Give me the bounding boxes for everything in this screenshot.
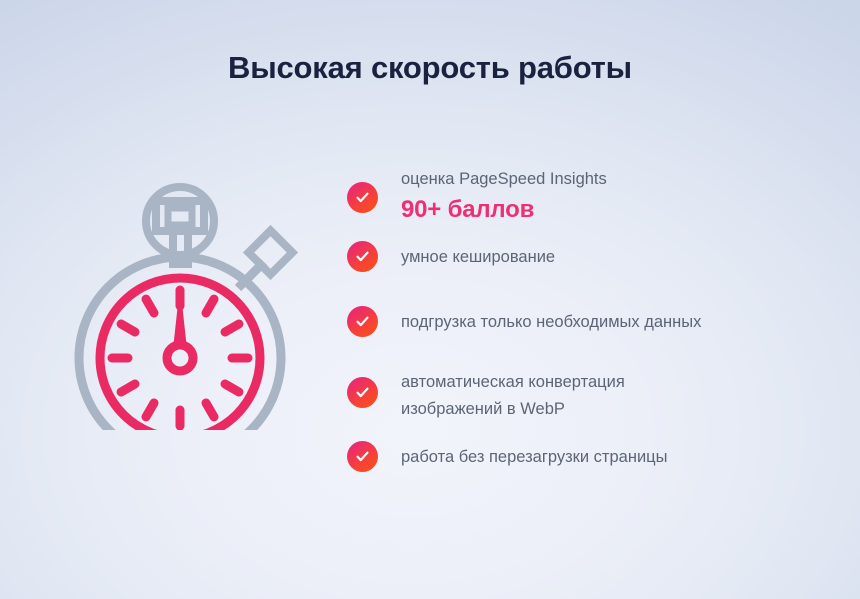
feature-line-highlight: 90+ баллов (401, 194, 817, 225)
feature-text: подгрузка только необходимых данных (379, 306, 817, 336)
check-badge (347, 441, 378, 472)
feature-line: автоматическая конвертация (401, 369, 817, 396)
feature-line: подгрузка только необходимых данных (401, 309, 817, 336)
check-icon (354, 448, 371, 465)
list-item: оценка PageSpeed Insights 90+ баллов (347, 166, 817, 225)
feature-list: оценка PageSpeed Insights 90+ баллов умн… (347, 166, 817, 473)
check-icon (354, 248, 371, 265)
page-title: Высокая скорость работы (0, 49, 860, 86)
list-item: автоматическая конвертация изображений в… (347, 369, 817, 423)
list-item: подгрузка только необходимых данных (347, 306, 817, 338)
badge-cell (347, 306, 379, 337)
needle-icon (173, 285, 187, 349)
badge-cell (347, 441, 379, 472)
feature-line: оценка PageSpeed Insights (401, 166, 817, 193)
needle-hub-icon (167, 345, 193, 371)
check-badge (347, 377, 378, 408)
feature-line: умное кеширование (401, 244, 817, 271)
list-item: работа без перезагрузки страницы (347, 441, 817, 473)
check-icon (354, 384, 371, 401)
stopwatch-svg (68, 168, 320, 430)
feature-line: работа без перезагрузки страницы (401, 444, 817, 471)
check-badge (347, 182, 378, 213)
feature-text: работа без перезагрузки страницы (379, 441, 817, 471)
slide-canvas: Высокая скорость работы (0, 0, 860, 599)
feature-text: умное кеширование (379, 241, 817, 271)
badge-cell (347, 369, 379, 408)
stopwatch-illustration (68, 168, 320, 430)
check-icon (354, 189, 371, 206)
list-item: умное кеширование (347, 241, 817, 273)
crown-button-inner-icon (168, 208, 192, 225)
badge-cell (347, 166, 379, 213)
feature-text: автоматическая конвертация изображений в… (379, 369, 817, 423)
check-badge (347, 241, 378, 272)
feature-line: изображений в WebP (401, 396, 817, 423)
check-icon (354, 313, 371, 330)
feature-text: оценка PageSpeed Insights 90+ баллов (379, 166, 817, 225)
check-badge (347, 306, 378, 337)
badge-cell (347, 241, 379, 272)
